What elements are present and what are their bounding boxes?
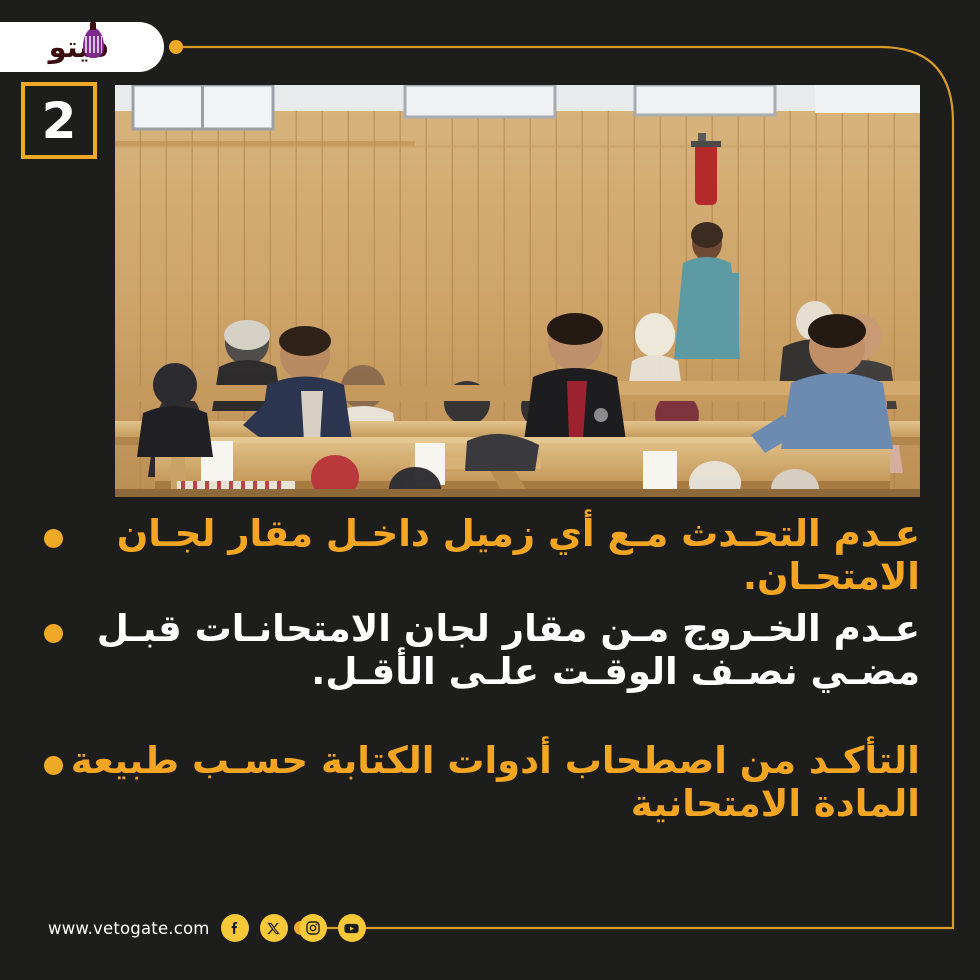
spacer xyxy=(40,599,920,607)
list-item: عـدم التحـدث مـع أي زميل داخـل مقار لجـا… xyxy=(40,512,920,599)
brand-logo[interactable]: فيتو xyxy=(0,22,164,72)
bullet-3-text: التأكـد من اصطحاب أدوات الكتابة حسـب طبي… xyxy=(64,739,920,826)
bullet-3-line-2: المادة الامتحانية xyxy=(631,782,920,825)
bullet-marker-icon xyxy=(44,624,63,643)
x-twitter-icon[interactable] xyxy=(260,914,288,942)
bullet-2-line-2: مضـي نصـف الوقـت علـى الأقـل. xyxy=(311,650,920,693)
step-number-badge: 2 xyxy=(21,82,97,159)
bullet-2-line-1: عـدم الخـروج مـن مقار لجان الامتحانـات ق… xyxy=(97,607,920,650)
step-number-value: 2 xyxy=(42,96,77,146)
exam-hall-photo xyxy=(115,85,920,497)
facebook-icon[interactable] xyxy=(221,914,249,942)
list-item: عـدم الخـروج مـن مقار لجان الامتحانـات ق… xyxy=(40,607,920,694)
bullet-marker-icon xyxy=(44,756,63,775)
bullet-1-text: عـدم التحـدث مـع أي زميل داخـل مقار لجـا… xyxy=(64,512,920,599)
exam-hall-photo-illustration xyxy=(115,85,920,497)
bullet-1-line-1: عـدم التحـدث مـع أي زميل داخـل مقار لجـا… xyxy=(117,512,920,555)
bullet-3-line-1: التأكـد من اصطحاب أدوات الكتابة حسـب طبي… xyxy=(71,739,920,782)
list-item: التأكـد من اصطحاب أدوات الكتابة حسـب طبي… xyxy=(40,739,920,826)
tips-list: عـدم التحـدث مـع أي زميل داخـل مقار لجـا… xyxy=(40,512,920,826)
logo-mark-stripes xyxy=(85,36,102,53)
infographic-card: فيتو 2 xyxy=(0,0,980,980)
bullet-marker-icon xyxy=(44,529,63,548)
spacer xyxy=(40,693,920,739)
logo-wrap: فيتو xyxy=(49,30,110,64)
bullet-2-text: عـدم الخـروج مـن مقار لجان الامتحانـات ق… xyxy=(64,607,920,694)
youtube-icon[interactable] xyxy=(338,914,366,942)
instagram-icon[interactable] xyxy=(299,914,327,942)
website-url[interactable]: www.vetogate.com xyxy=(48,919,210,938)
footer: www.vetogate.com xyxy=(48,914,366,942)
bullet-1-line-2: الامتحـان. xyxy=(743,555,920,598)
